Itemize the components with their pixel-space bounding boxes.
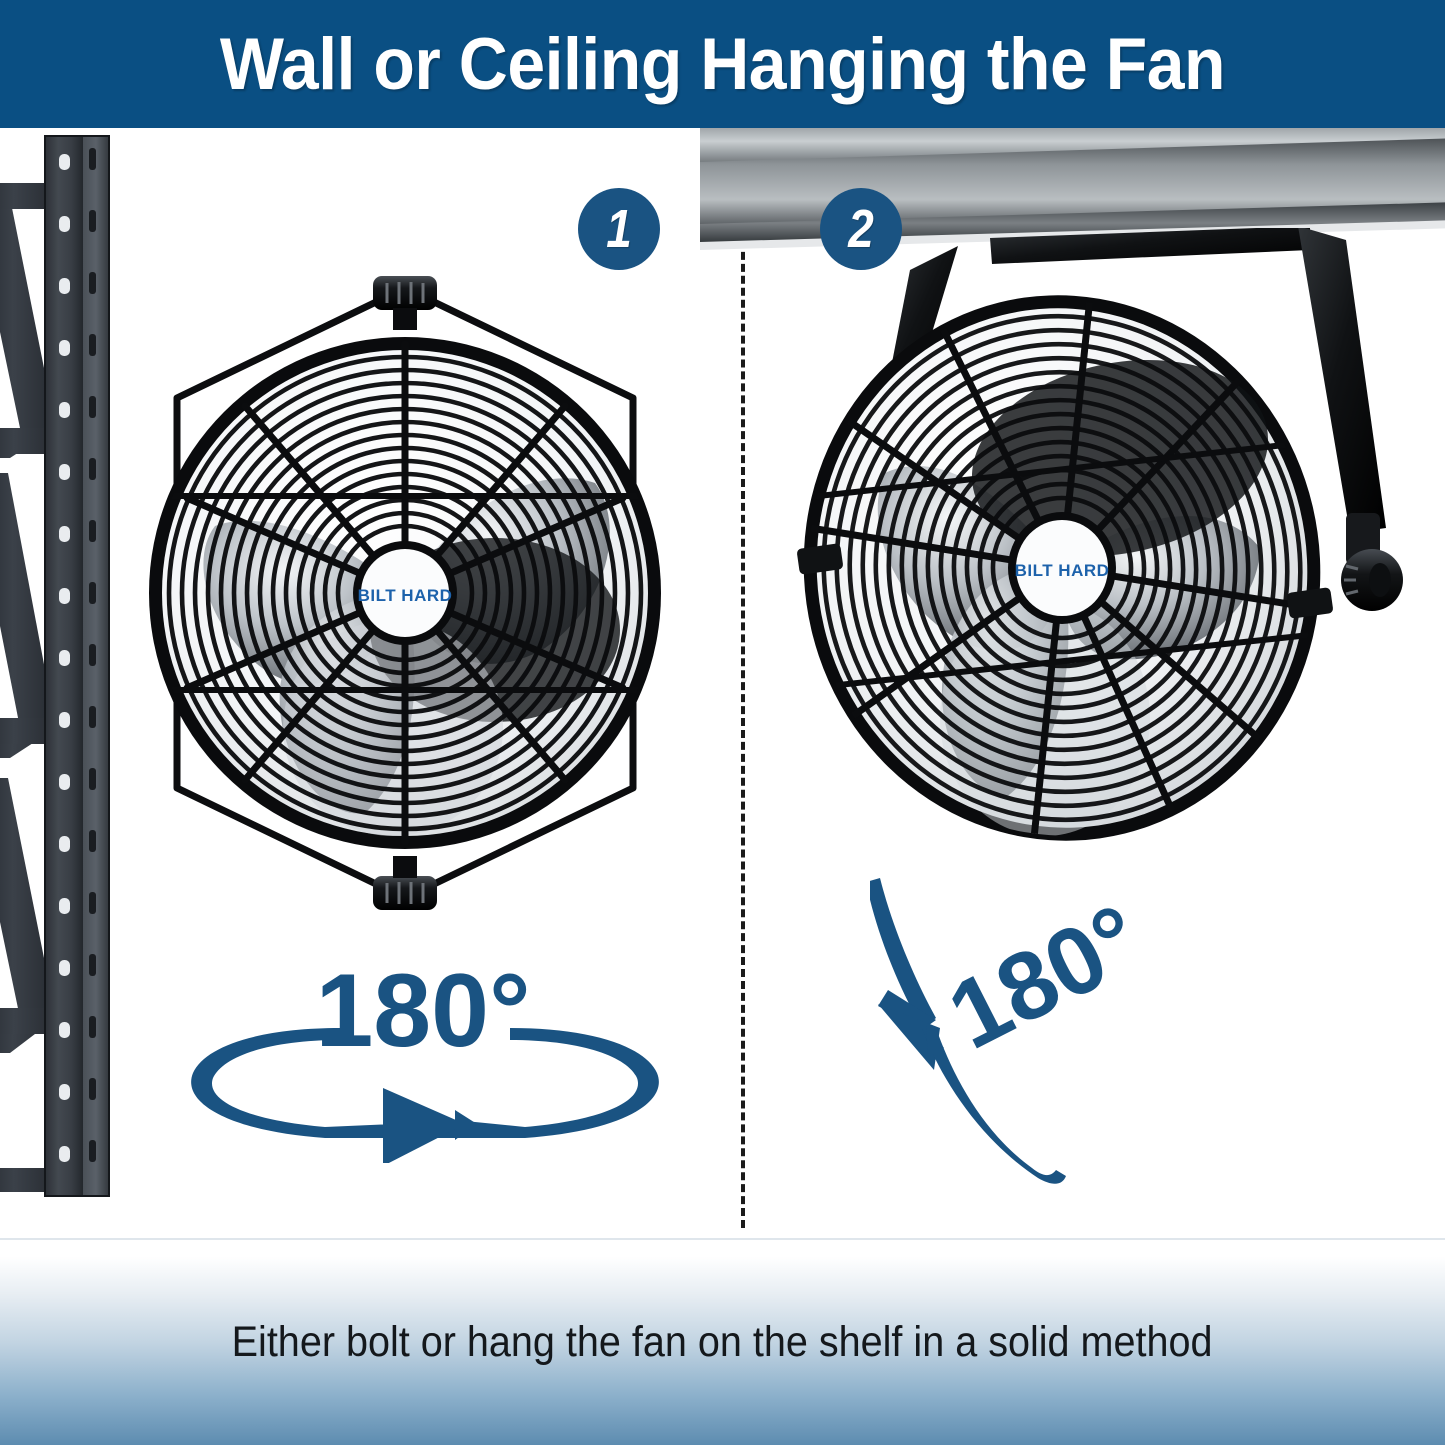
fan-hub-logo: BILT HARD <box>1015 561 1110 580</box>
step-badge-1: 1 <box>578 188 660 270</box>
step-badge-2-number: 2 <box>848 202 874 256</box>
fan-ceiling-hung: BILT HARD <box>790 228 1415 883</box>
tilt-knob-bottom <box>373 856 437 910</box>
fan-hub-logo: BILT HARD <box>358 586 453 605</box>
rotation-indicator-vertical: 180° <box>870 878 1210 1223</box>
panel-divider <box>741 228 745 1228</box>
footer-caption-band: Either bolt or hang the fan on the shelf… <box>0 1240 1445 1445</box>
rotation-label-vertical: 180° <box>932 884 1157 1069</box>
header-banner: Wall or Ceiling Hanging the Fan <box>0 0 1445 128</box>
page-title: Wall or Ceiling Hanging the Fan <box>220 28 1225 101</box>
step-badge-2: 2 <box>820 188 902 270</box>
bracket-pivot-knob <box>1341 549 1403 611</box>
fan-wall-mounted: BILT HARD <box>95 258 715 938</box>
illustration-stage: 1 2 <box>0 128 1445 1240</box>
step-badge-1-number: 1 <box>606 202 632 256</box>
footer-caption: Either bolt or hang the fan on the shelf… <box>232 1321 1213 1364</box>
rotation-label-horizontal: 180° <box>315 953 530 1069</box>
tilt-knob-top <box>373 276 437 330</box>
rotation-indicator-horizontal: 180° <box>165 928 685 1163</box>
infographic-page: Wall or Ceiling Hanging the Fan <box>0 0 1445 1445</box>
